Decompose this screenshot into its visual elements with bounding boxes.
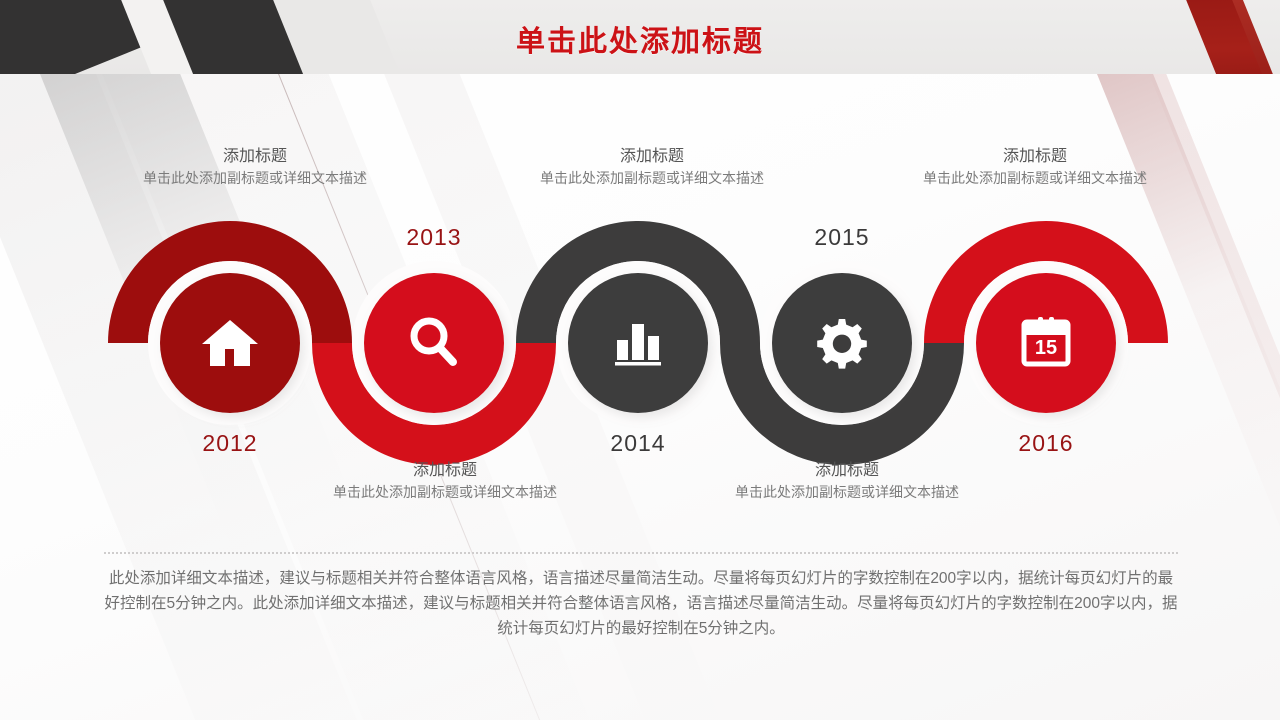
footer-description: 此处添加详细文本描述，建议与标题相关并符合整体语言风格，语言描述尽量简洁生动。尽… (104, 566, 1178, 641)
caption-sub-node-4: 单击此处添加副标题或详细文本描述 (717, 483, 977, 501)
page-title: 单击此处添加标题 (0, 18, 1280, 60)
calendar-icon-day: 15 (1035, 337, 1057, 359)
year-label-2016: 2016 (976, 430, 1116, 457)
year-label-2015: 2015 (772, 224, 912, 251)
caption-title-node-2: 添加标题 (315, 460, 575, 481)
caption-node-3: 添加标题 单击此处添加副标题或详细文本描述 (522, 146, 782, 188)
year-label-2013: 2013 (364, 224, 504, 251)
caption-sub-node-3: 单击此处添加副标题或详细文本描述 (522, 169, 782, 187)
footer-divider (104, 552, 1178, 554)
caption-node-5: 添加标题 单击此处添加副标题或详细文本描述 (905, 146, 1165, 188)
caption-node-1: 添加标题 单击此处添加副标题或详细文本描述 (125, 146, 385, 188)
caption-title-node-4: 添加标题 (717, 460, 977, 481)
year-label-2012: 2012 (160, 430, 300, 457)
caption-node-4: 添加标题 单击此处添加副标题或详细文本描述 (717, 460, 977, 502)
caption-sub-node-5: 单击此处添加副标题或详细文本描述 (905, 169, 1165, 187)
caption-title-node-1: 添加标题 (125, 146, 385, 167)
caption-title-node-3: 添加标题 (522, 146, 782, 167)
caption-node-2: 添加标题 单击此处添加副标题或详细文本描述 (315, 460, 575, 502)
caption-sub-node-1: 单击此处添加副标题或详细文本描述 (125, 169, 385, 187)
gear-icon (817, 319, 867, 369)
caption-sub-node-2: 单击此处添加副标题或详细文本描述 (315, 483, 575, 501)
caption-title-node-5: 添加标题 (905, 146, 1165, 167)
circle-node-2[interactable] (364, 273, 504, 413)
slide-canvas: 单击此处添加标题 (0, 0, 1280, 720)
year-label-2014: 2014 (568, 430, 708, 457)
